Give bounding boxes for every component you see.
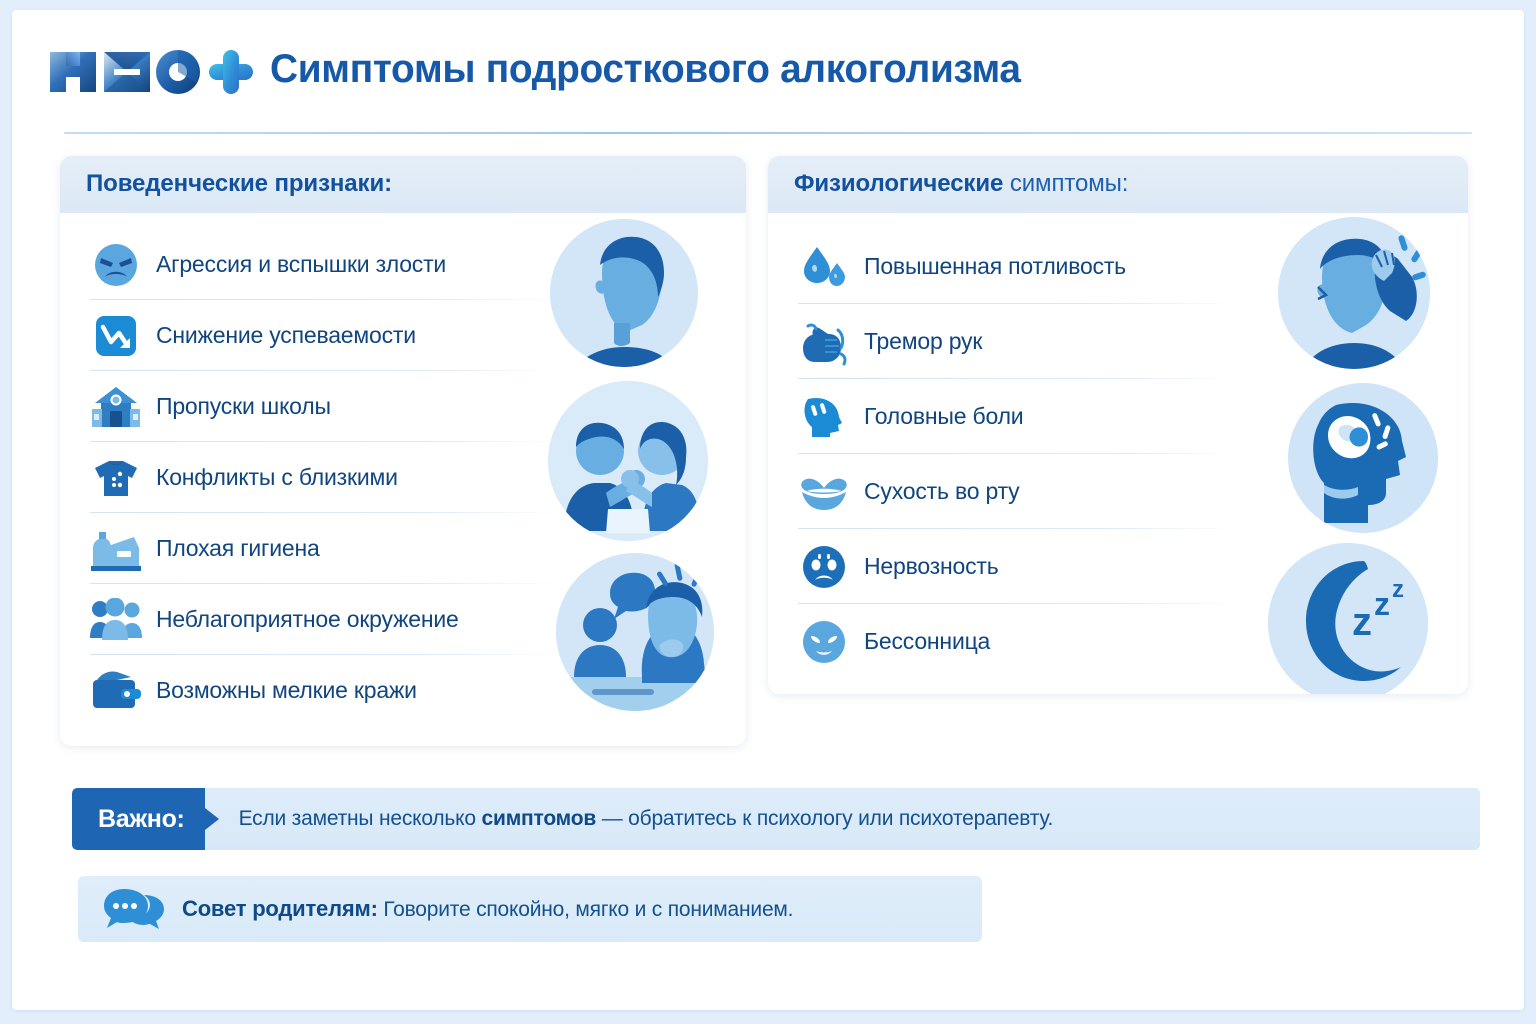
behavioral-list: Агрессия и вспышки злости Снижение успев… [60, 229, 746, 726]
tired-face-icon [798, 616, 850, 668]
declining-chart-icon [90, 310, 142, 362]
important-text-bold: симптомов [482, 807, 597, 830]
behavioral-panel-body: Агрессия и вспышки злости Снижение успев… [60, 213, 746, 746]
parents-tip-title: Совет родителям: [182, 896, 378, 921]
list-item-label: Пропуски школы [156, 393, 331, 420]
behavioral-signs-panel: Поведенческие признаки: [60, 156, 746, 746]
soap-bottle-icon [90, 523, 142, 575]
physiological-panel-heading: Физиологические симптомы: [768, 156, 1468, 213]
list-item-label: Повышенная потливость [864, 253, 1126, 280]
list-item[interactable]: Головные боли [768, 379, 1468, 454]
list-item-label: Агрессия и вспышки злости [156, 251, 446, 278]
physiological-heading-bold: Физиологические [794, 170, 1003, 197]
worried-face-icon [798, 541, 850, 593]
list-item[interactable]: Конфликты с близкими [60, 442, 746, 513]
list-item[interactable]: Агрессия и вспышки злости [60, 229, 746, 300]
neo-plus-logo-icon [46, 44, 256, 98]
list-item[interactable]: Сухость во рту [768, 454, 1468, 529]
important-text-before: Если заметны несколько [239, 807, 482, 830]
list-item[interactable]: Нервозность [768, 529, 1468, 604]
list-item-label: Снижение успеваемости [156, 322, 416, 349]
list-item-label: Возможны мелкие кражи [156, 677, 417, 704]
important-tag: Важно: [72, 788, 205, 850]
physiological-symptoms-panel: Физиологические симптомы: [768, 156, 1468, 694]
list-item[interactable]: Повышенная потливость [768, 229, 1468, 304]
list-item[interactable]: Плохая гигиена [60, 513, 746, 584]
list-item-label: Головные боли [864, 403, 1023, 430]
list-item-label: Бессонница [864, 628, 990, 655]
list-item-label: Неблагоприятное окружение [156, 606, 459, 633]
speech-bubbles-icon [104, 883, 164, 936]
list-item-label: Конфликты с близкими [156, 464, 398, 491]
behavioral-panel-heading: Поведенческие признаки: [60, 156, 746, 213]
important-text-after: — обратитесь к психологу или психотерапе… [596, 807, 1053, 830]
list-item-label: Нервозность [864, 553, 999, 580]
head-pain-icon [798, 391, 850, 443]
angry-face-icon [90, 239, 142, 291]
lips-icon [798, 466, 850, 518]
list-item[interactable]: Неблагоприятное окружение [60, 584, 746, 655]
panels-container: Поведенческие признаки: [12, 156, 1524, 746]
water-drops-icon [798, 241, 850, 293]
physiological-list: Повышенная потливость [768, 229, 1468, 679]
group-of-people-icon [90, 594, 142, 646]
school-building-icon [90, 381, 142, 433]
header: Симптомы подросткового алкоголизма [12, 10, 1524, 106]
trembling-hand-icon [798, 316, 850, 368]
header-divider [64, 132, 1472, 134]
list-item[interactable]: Возможны мелкие кражи [60, 655, 746, 726]
important-banner: Важно: Если заметны несколько симптомов … [72, 788, 1480, 850]
list-item[interactable]: Пропуски школы [60, 371, 746, 442]
important-text: Если заметны несколько симптомов — обрат… [205, 807, 1054, 831]
list-item[interactable]: Бессонница [768, 604, 1468, 679]
brand-logo [46, 45, 256, 97]
list-item-label: Плохая гигиена [156, 535, 320, 562]
list-item[interactable]: Снижение успеваемости [60, 300, 746, 371]
physiological-heading-light: симптомы: [1003, 170, 1128, 197]
infographic-card: Симптомы подросткового алкоголизма Повед… [12, 10, 1524, 1010]
list-item[interactable]: Тремор рук [768, 304, 1468, 379]
wallet-icon [90, 665, 142, 717]
tshirt-icon [90, 452, 142, 504]
page-title: Симптомы подросткового алкоголизма [270, 49, 1021, 93]
parents-tip-text: Совет родителям: Говорите спокойно, мягк… [182, 896, 793, 922]
parents-tip-banner: Совет родителям: Говорите спокойно, мягк… [78, 876, 982, 942]
physiological-panel-body: z z z [768, 213, 1468, 694]
list-item-label: Сухость во рту [864, 478, 1019, 505]
parents-tip-body: Говорите спокойно, мягко и с пониманием. [378, 898, 794, 921]
list-item-label: Тремор рук [864, 328, 982, 355]
